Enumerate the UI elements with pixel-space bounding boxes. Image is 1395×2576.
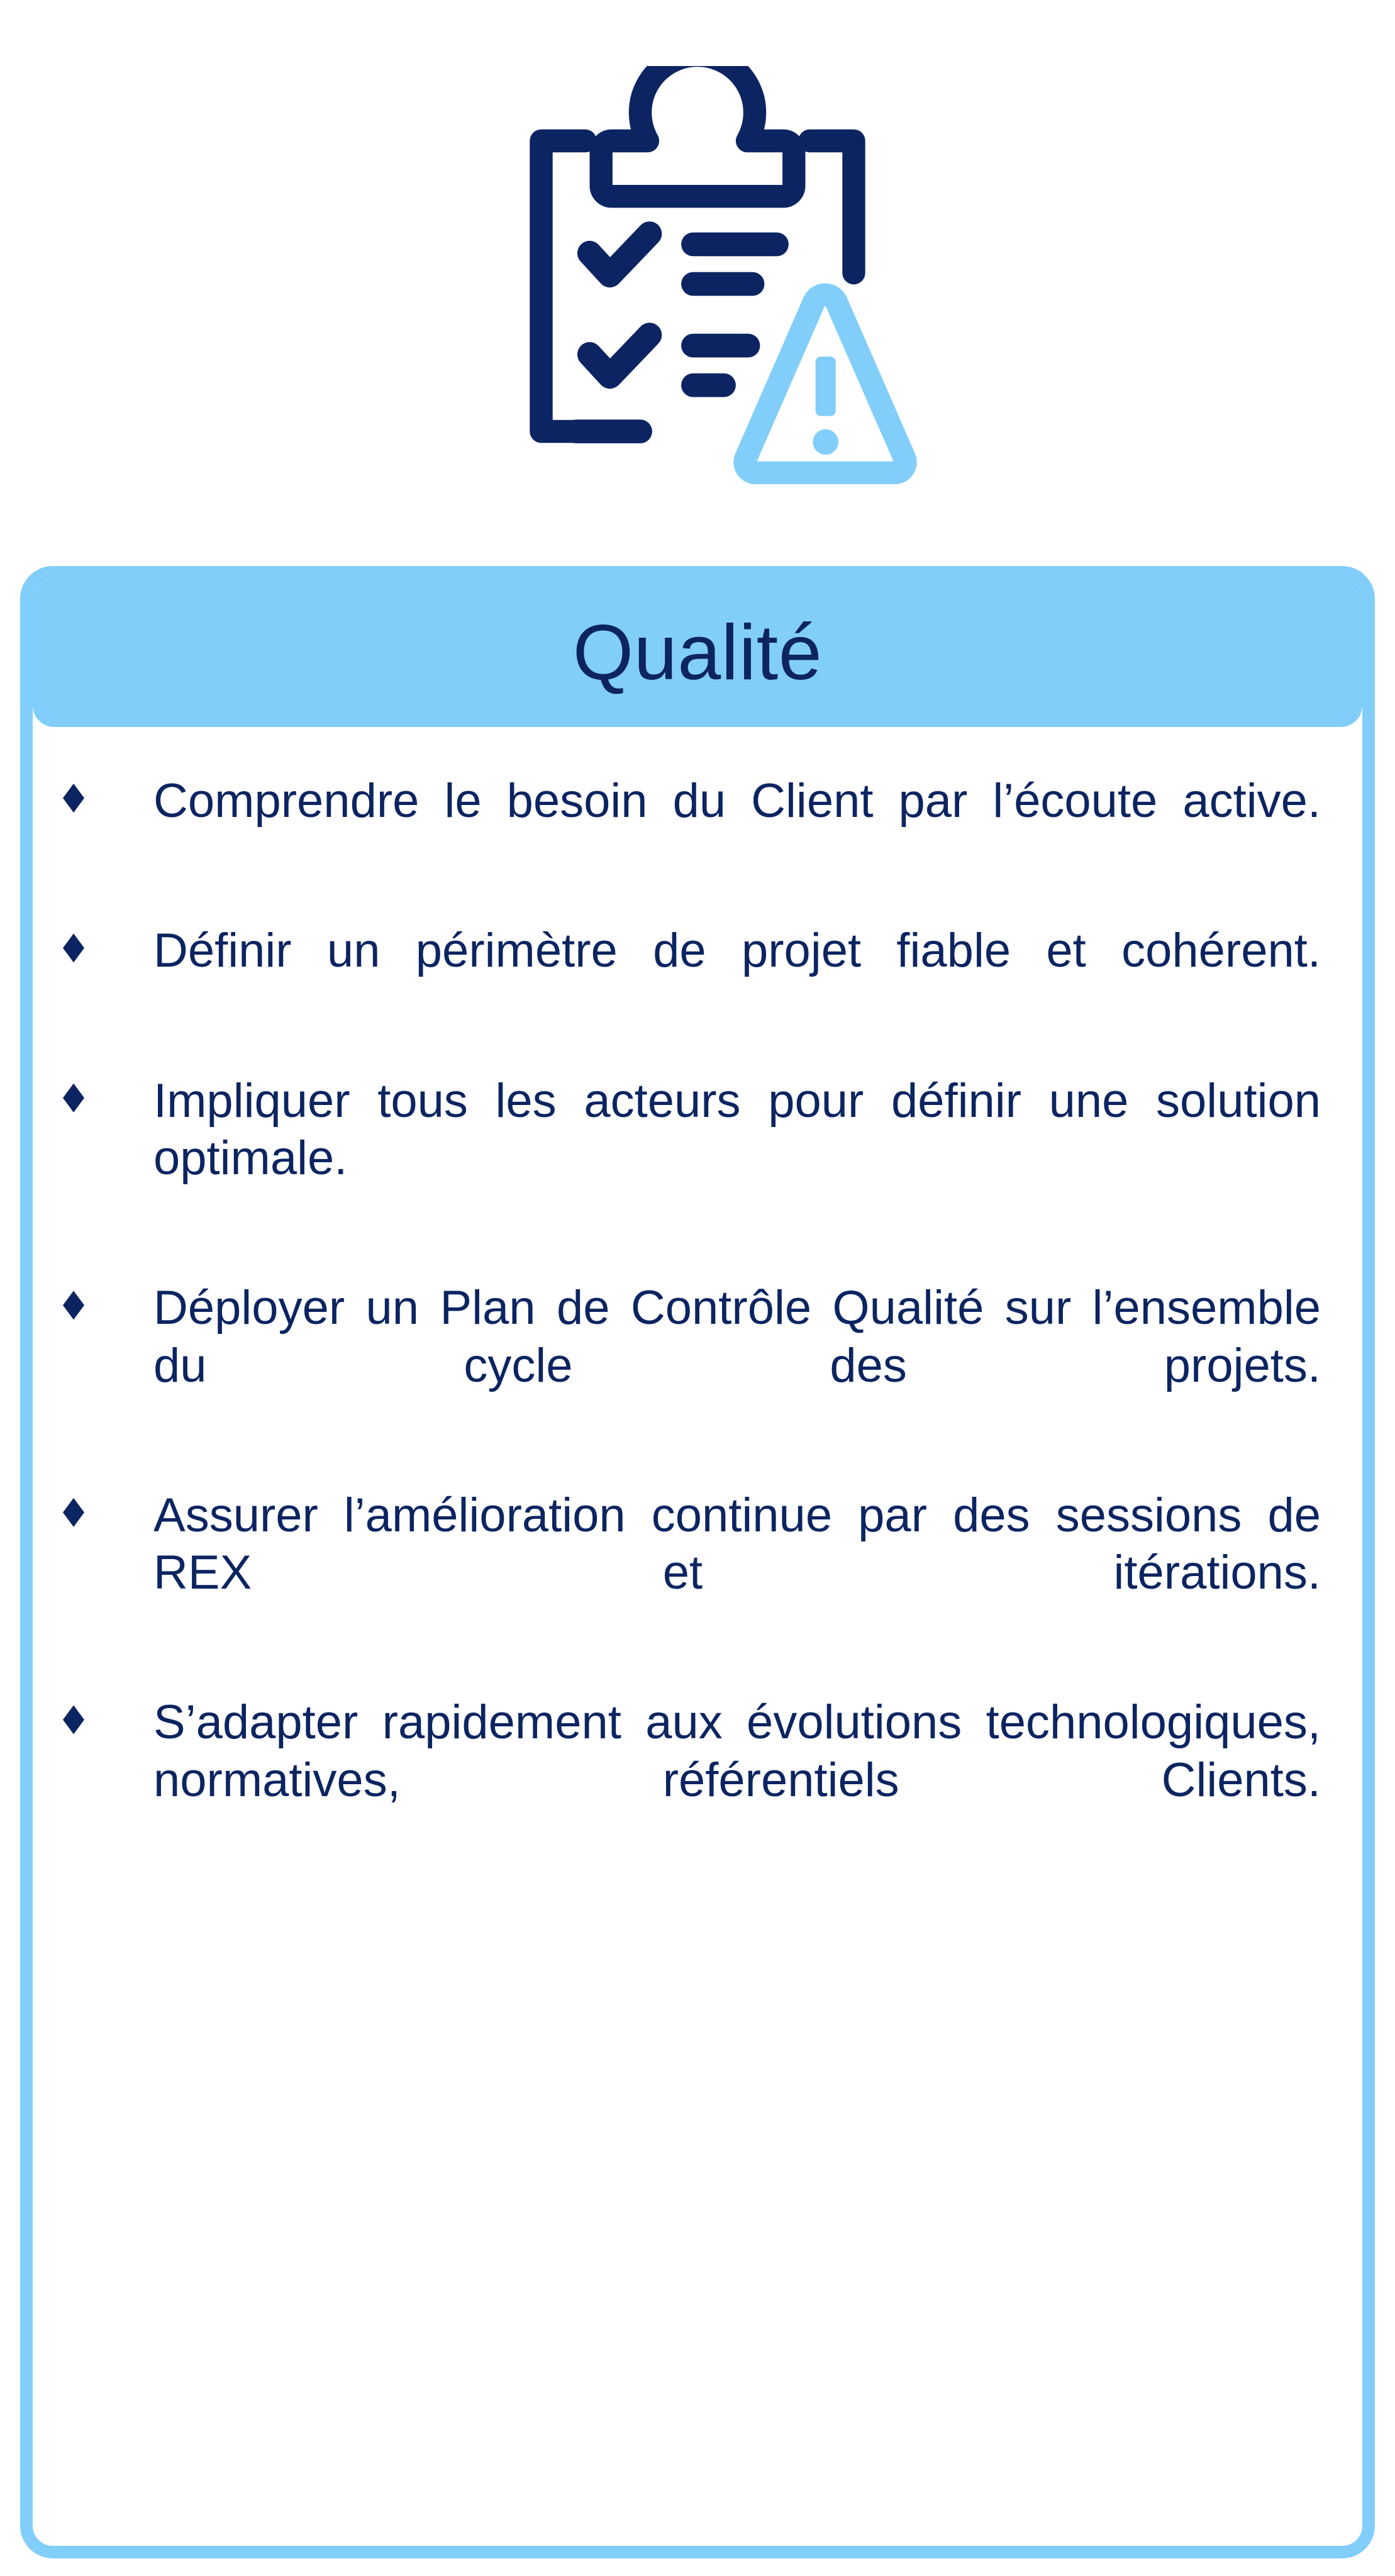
list-item-text: Définir un périmètre de projet fiable et… [153,922,1323,1036]
diamond-bullet-icon [59,922,89,969]
quality-card: Qualité Comprendre le besoin du Client p… [20,566,1375,2558]
clipboard-checklist-warning-icon [0,38,1395,535]
check-mark-1 [590,234,650,275]
list-item: Définir un périmètre de projet fiable et… [33,922,1323,1036]
clipboard-clip [601,66,794,196]
list-item: Déployer un Plan de Contrôle Qualité sur… [33,1279,1323,1452]
list-item-text: Impliquer tous les acteurs pour définir … [153,1072,1323,1245]
list-item-text: Déployer un Plan de Contrôle Qualité sur… [153,1279,1323,1452]
quality-slide-page: Qualité Comprendre le besoin du Client p… [0,0,1395,2576]
diamond-bullet-icon [59,1694,89,1740]
diamond-bullet-icon [59,1487,89,1533]
list-item: Comprendre le besoin du Client par l’éco… [33,772,1323,887]
check-mark-2 [590,335,650,377]
list-item-text: Comprendre le besoin du Client par l’éco… [153,772,1323,887]
diamond-bullet-icon [59,772,89,819]
quality-bullet-list: Comprendre le besoin du Client par l’éco… [33,772,1323,1866]
list-item: S’adapter rapidement aux évolutions tech… [33,1694,1323,1866]
page-title: Qualité [573,614,822,692]
exclamation-mark [813,357,838,455]
list-item: Assurer l’amélioration continue par des … [33,1487,1323,1659]
diamond-bullet-icon [59,1072,89,1119]
list-item: Impliquer tous les acteurs pour définir … [33,1072,1323,1245]
card-body: Comprendre le besoin du Client par l’éco… [33,727,1362,1891]
card-header: Qualité [33,579,1362,727]
list-item-text: Assurer l’amélioration continue par des … [153,1487,1323,1659]
icon-svg [477,66,918,506]
diamond-bullet-icon [59,1279,89,1326]
list-item-text: S’adapter rapidement aux évolutions tech… [153,1694,1323,1866]
